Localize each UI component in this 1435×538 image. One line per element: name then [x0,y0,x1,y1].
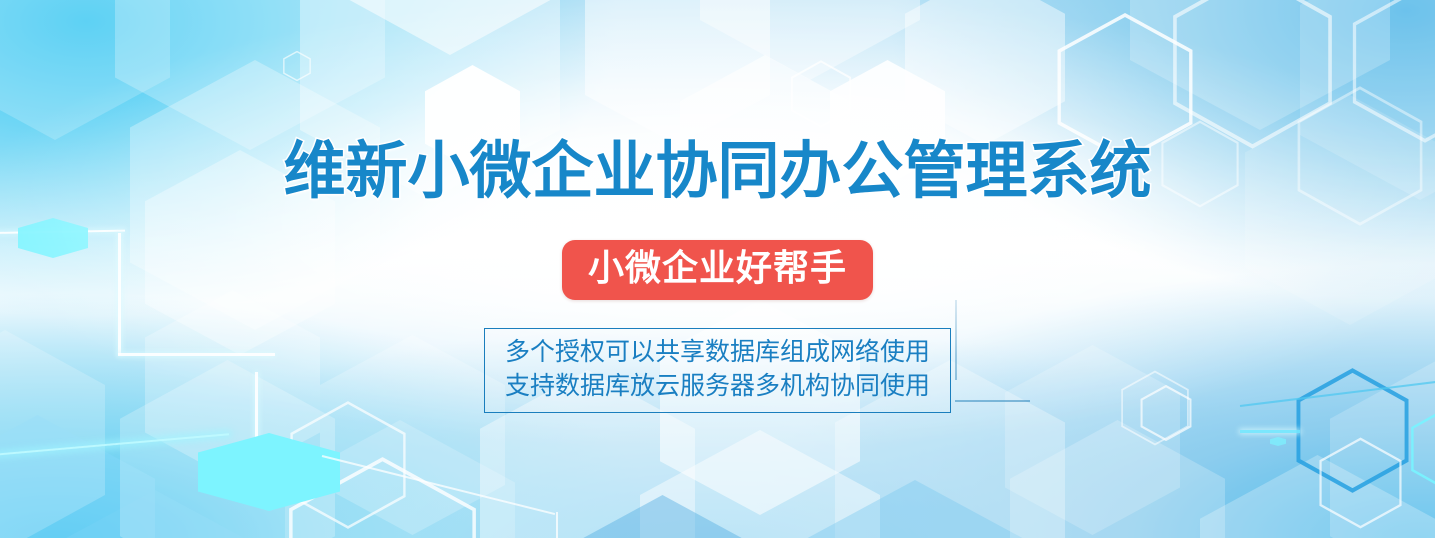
feature-line-1: 多个授权可以共享数据库组成网络使用 [505,335,930,369]
tagline-badge: 小微企业好帮手 [562,240,873,300]
feature-line-2: 支持数据库放云服务器多机构协同使用 [505,369,930,403]
page-title: 维新小微企业协同办公管理系统 [283,140,1151,202]
banner-content: 维新小微企业协同办公管理系统 小微企业好帮手 多个授权可以共享数据库组成网络使用… [0,0,1435,538]
feature-box: 多个授权可以共享数据库组成网络使用 支持数据库放云服务器多机构协同使用 [484,328,951,413]
promo-banner: 维新小微企业协同办公管理系统 小微企业好帮手 多个授权可以共享数据库组成网络使用… [0,0,1435,538]
